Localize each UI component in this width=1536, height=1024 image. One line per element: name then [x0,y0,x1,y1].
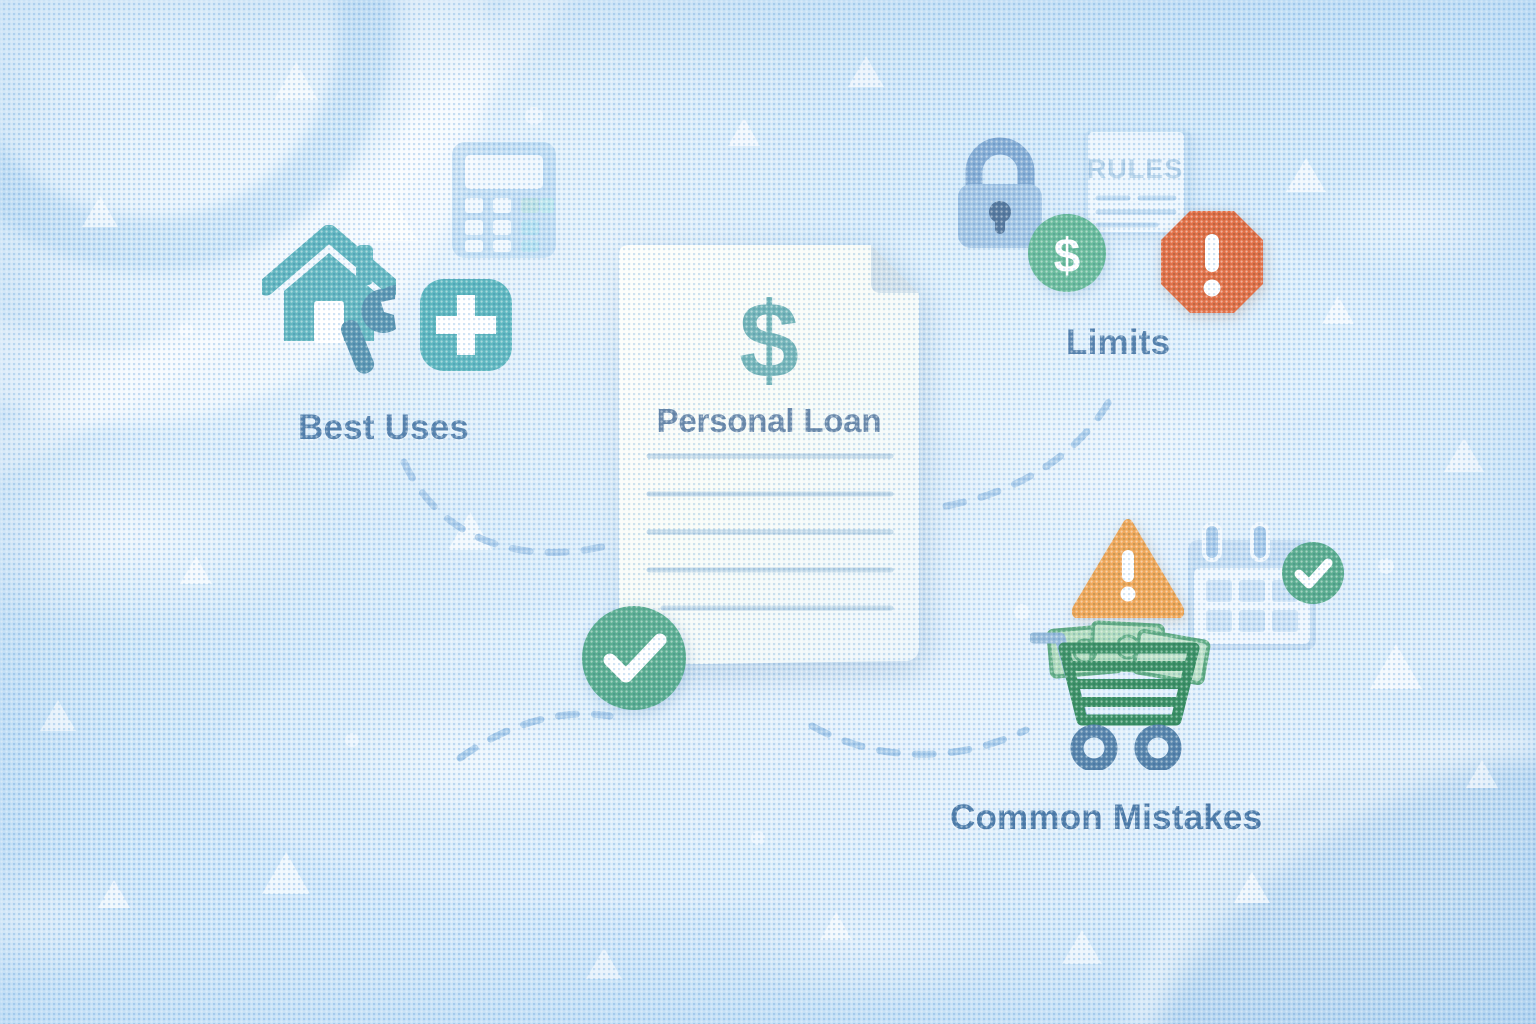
infographic-canvas: $ Personal Loan [0,0,1536,1024]
halftone-highlight-texture [0,0,1536,1024]
